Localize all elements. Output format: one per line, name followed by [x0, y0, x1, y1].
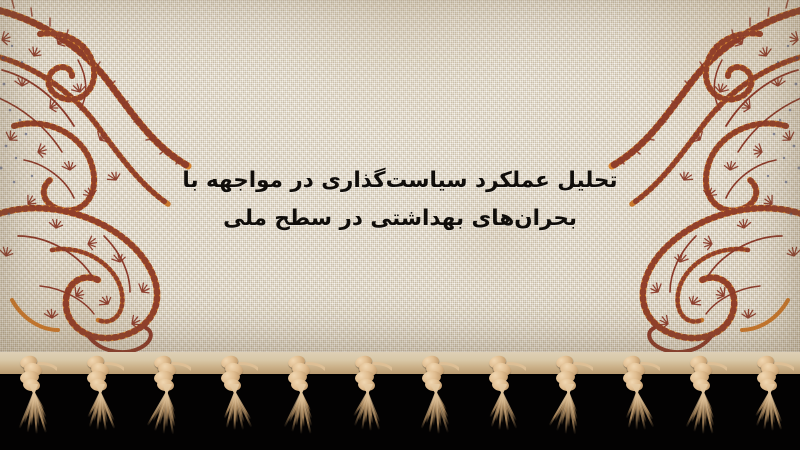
tassel-strands	[751, 384, 787, 440]
tassel-strands	[148, 384, 184, 440]
tassel	[276, 352, 322, 442]
tassel	[678, 352, 724, 442]
tassel	[75, 352, 121, 442]
paisley-scroll-embroidery-right-icon	[548, 0, 800, 370]
fabric-aging-mottle	[0, 0, 800, 370]
tassel	[209, 352, 255, 442]
tassel	[410, 352, 456, 442]
tassel	[544, 352, 590, 442]
tassel-strands	[282, 384, 318, 440]
tassel-strands	[14, 384, 50, 440]
slide-canvas: تحلیل عملکرد سیاست‌گذاری در مواجهه با بح…	[0, 0, 800, 450]
tassel-strands	[81, 384, 117, 440]
tassel	[611, 352, 657, 442]
tassel	[477, 352, 523, 442]
tassel-strands	[416, 384, 452, 440]
tassel-strands	[617, 384, 653, 440]
cloth-vignette	[0, 0, 800, 370]
tassel-strands	[684, 384, 720, 440]
tassel-strands	[349, 384, 385, 440]
knotted-tassel-fringe	[0, 352, 800, 450]
tassel-strands	[550, 384, 586, 440]
tassel-strands	[215, 384, 251, 440]
linen-cloth	[0, 0, 800, 370]
tassel	[8, 352, 54, 442]
tassel	[745, 352, 791, 442]
paisley-scroll-embroidery-left-icon	[0, 0, 252, 370]
weave-texture-diagonal	[0, 0, 800, 370]
tassel	[343, 352, 389, 442]
tassel-strands	[483, 384, 519, 440]
weave-texture-warp	[0, 0, 800, 370]
weave-texture-weft	[0, 0, 800, 370]
tassel	[142, 352, 188, 442]
